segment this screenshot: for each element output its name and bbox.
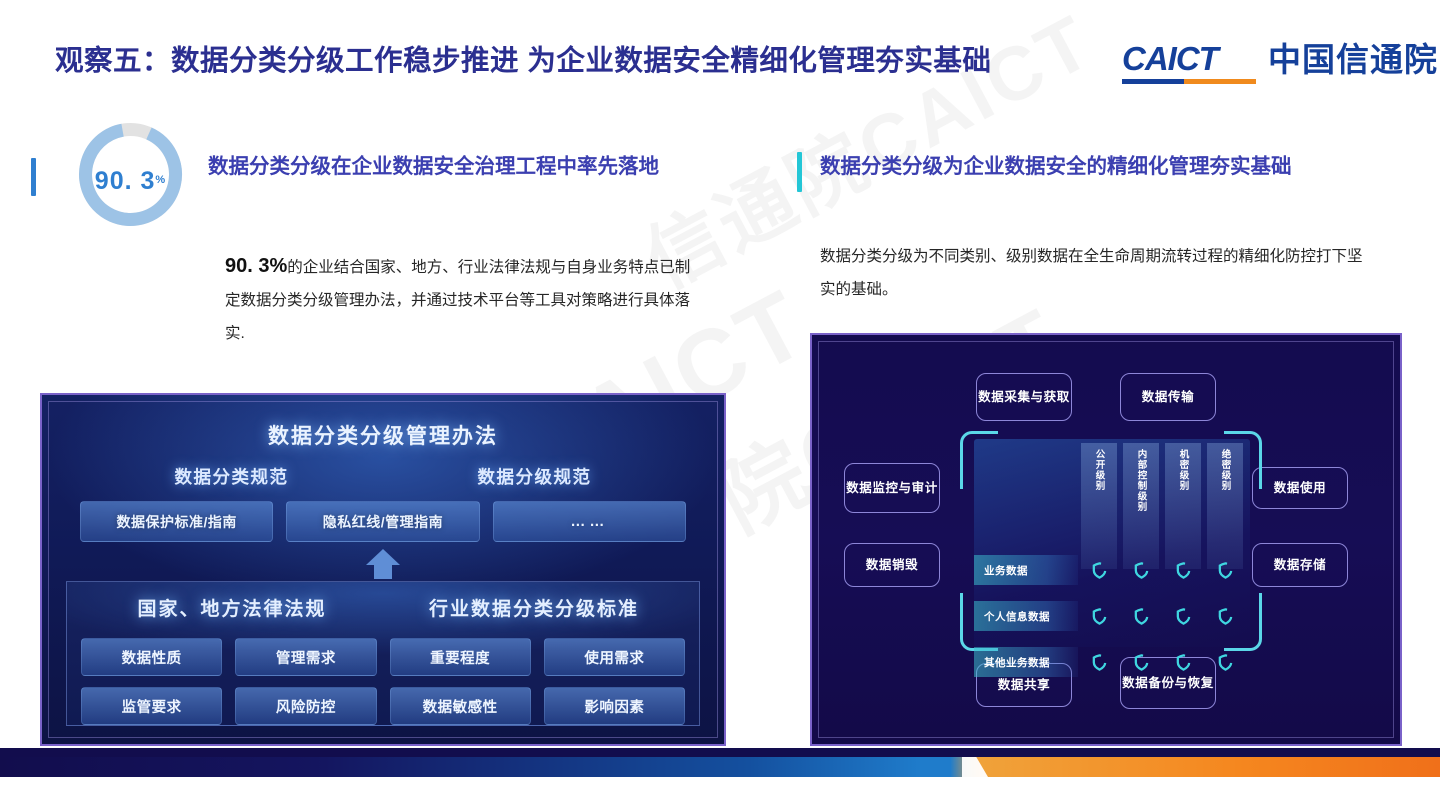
matrix-cell bbox=[1204, 647, 1246, 677]
foundation-cell: 数据性质 bbox=[81, 638, 222, 676]
caict-logo: CAICT 中国信通院 bbox=[1122, 40, 1438, 88]
matrix-cell bbox=[1120, 555, 1162, 585]
left-body-text: 的企业结合国家、地方、行业法律法规与自身业务特点已制定数据分类分级管理办法，并通… bbox=[225, 259, 690, 342]
foundation-cell: 风险防控 bbox=[235, 687, 376, 725]
shield-icon bbox=[1091, 654, 1108, 671]
foundation-title-row: 国家、地方法律法规 行业数据分类分级标准 bbox=[81, 594, 685, 630]
matrix-column-label: 绝密级别 bbox=[1220, 449, 1231, 569]
lifecycle-box-store: 数据存储 bbox=[1252, 543, 1348, 587]
matrix-column-label: 内部控制级别 bbox=[1136, 449, 1147, 569]
matrix-rows: 业务数据 个人信息数据 bbox=[974, 555, 1250, 693]
left-column-heading: 数据分类分级在企业数据安全治理工程中率先落地 bbox=[208, 148, 708, 186]
shield-icon bbox=[1217, 608, 1234, 625]
slide-header: 观察五：数据分类分级工作稳步推进 为企业数据安全精细化管理夯实基础 CAICT … bbox=[0, 0, 1440, 105]
matrix-column-header: 内部控制级别 bbox=[1123, 443, 1159, 569]
left-diagram-subtitle-row: 数据分类规范 数据分级规范 bbox=[80, 464, 686, 498]
left-diagram-foundation-block: 国家、地方法律法规 行业数据分类分级标准 数据性质 管理需求 重要程度 使用需求… bbox=[66, 581, 700, 726]
matrix-row: 业务数据 bbox=[974, 555, 1250, 585]
matrix-row: 个人信息数据 bbox=[974, 601, 1250, 631]
left-column-body: 90. 3%的企业结合国家、地方、行业法律法规与自身业务特点已制定数据分类分级管… bbox=[225, 250, 695, 350]
logo-mark: CAICT bbox=[1122, 40, 1256, 84]
left-diagram-panel: 数据分类分级管理办法 数据分类规范 数据分级规范 数据保护标准/指南 隐私红线/… bbox=[40, 393, 726, 746]
matrix-cell bbox=[1204, 601, 1246, 631]
left-diagram-chip-row: 数据保护标准/指南 隐私红线/管理指南 …… bbox=[80, 501, 686, 542]
logo-underline-orange bbox=[1184, 79, 1256, 84]
matrix-column-headers: 公开级别 内部控制级别 机密级别 绝密级别 bbox=[1078, 443, 1246, 569]
stat-donut-label: 90. 3% bbox=[74, 118, 187, 231]
matrix-cell bbox=[1078, 601, 1120, 631]
matrix-cell bbox=[1078, 647, 1120, 677]
shield-icon bbox=[1217, 654, 1234, 671]
matrix-row-label: 业务数据 bbox=[974, 555, 1078, 585]
shield-icon bbox=[1217, 562, 1234, 579]
logo-underline-blue bbox=[1122, 79, 1184, 84]
shield-icon bbox=[1133, 654, 1150, 671]
left-diagram-title: 数据分类分级管理办法 bbox=[42, 420, 724, 450]
stat-unit: % bbox=[155, 174, 166, 186]
left-diagram-subtitle: 数据分类规范 bbox=[80, 464, 383, 498]
left-diagram-chip-ellipsis: …… bbox=[493, 501, 686, 542]
slide-root: 中国信通院CAICT 信通院CAICT 院CAICT 中 观察五：数据分类分级工… bbox=[0, 0, 1440, 810]
logo-underline-bar bbox=[1122, 79, 1256, 84]
matrix-row: 其他业务数据 bbox=[974, 647, 1250, 677]
classification-matrix: 公开级别 内部控制级别 机密级别 绝密级别 业务数据 个人信息数据 bbox=[974, 439, 1250, 647]
lifecycle-box-use: 数据使用 bbox=[1252, 467, 1348, 509]
matrix-cell bbox=[1162, 647, 1204, 677]
logo-wordmark: CAICT bbox=[1122, 40, 1256, 78]
matrix-row-label: 个人信息数据 bbox=[974, 601, 1078, 631]
matrix-row-cells bbox=[1078, 601, 1246, 631]
shield-icon bbox=[1091, 608, 1108, 625]
right-diagram-panel: 数据采集与获取 数据传输 数据监控与审计 数据销毁 数据使用 数据存储 数据共享… bbox=[810, 333, 1402, 746]
shield-icon bbox=[1133, 608, 1150, 625]
foundation-title: 国家、地方法律法规 bbox=[81, 594, 383, 630]
foundation-cell: 重要程度 bbox=[390, 638, 531, 676]
matrix-cell bbox=[1204, 555, 1246, 585]
foundation-cell-grid: 数据性质 管理需求 重要程度 使用需求 监管要求 风险防控 数据敏感性 影响因素 bbox=[81, 638, 685, 725]
shield-icon bbox=[1175, 562, 1192, 579]
matrix-cell bbox=[1120, 647, 1162, 677]
matrix-row-cells bbox=[1078, 647, 1246, 677]
matrix-column-header: 机密级别 bbox=[1165, 443, 1201, 569]
right-column-heading: 数据分类分级为企业数据安全的精细化管理夯实基础 bbox=[820, 148, 1380, 186]
right-accent-bar bbox=[797, 152, 802, 192]
matrix-row-cells bbox=[1078, 555, 1246, 585]
foundation-cell: 监管要求 bbox=[81, 687, 222, 725]
matrix-column-label: 公开级别 bbox=[1094, 449, 1105, 569]
left-body-highlight: 90. 3% bbox=[225, 255, 287, 277]
arrow-shaft bbox=[374, 563, 392, 579]
footer-gradient-ribbon bbox=[0, 757, 1440, 777]
foundation-cell: 数据敏感性 bbox=[390, 687, 531, 725]
lifecycle-box-monitor: 数据监控与审计 bbox=[844, 463, 940, 513]
matrix-column-header: 公开级别 bbox=[1081, 443, 1117, 569]
matrix-column-label: 机密级别 bbox=[1178, 449, 1189, 569]
logo-chinese-name: 中国信通院 bbox=[1268, 40, 1438, 80]
lifecycle-box-collect: 数据采集与获取 bbox=[976, 373, 1072, 421]
matrix-row-label: 其他业务数据 bbox=[974, 647, 1078, 677]
left-accent-bar bbox=[31, 158, 36, 196]
shield-icon bbox=[1175, 654, 1192, 671]
right-column-body: 数据分类分级为不同类别、级别数据在全生命周期流转过程的精细化防控打下坚实的基础。 bbox=[820, 240, 1370, 306]
page-title: 观察五：数据分类分级工作稳步推进 为企业数据安全精细化管理夯实基础 bbox=[55, 38, 991, 79]
left-diagram-chip: 隐私红线/管理指南 bbox=[286, 501, 479, 542]
stat-value: 90. 3 bbox=[95, 167, 156, 196]
lifecycle-box-destroy: 数据销毁 bbox=[844, 543, 940, 587]
matrix-cell bbox=[1120, 601, 1162, 631]
foundation-title: 行业数据分类分级标准 bbox=[383, 594, 685, 630]
matrix-column-header: 绝密级别 bbox=[1207, 443, 1243, 569]
lifecycle-box-transmit: 数据传输 bbox=[1120, 373, 1216, 421]
left-diagram-subtitle: 数据分级规范 bbox=[383, 464, 686, 498]
foundation-cell: 影响因素 bbox=[544, 687, 685, 725]
foundation-cell: 管理需求 bbox=[235, 638, 376, 676]
left-diagram-chip: 数据保护标准/指南 bbox=[80, 501, 273, 542]
matrix-cell bbox=[1078, 555, 1120, 585]
stat-donut-chart: 90. 3% bbox=[74, 118, 187, 231]
shield-icon bbox=[1133, 562, 1150, 579]
matrix-cell bbox=[1162, 601, 1204, 631]
shield-icon bbox=[1091, 562, 1108, 579]
matrix-cell bbox=[1162, 555, 1204, 585]
foundation-cell: 使用需求 bbox=[544, 638, 685, 676]
shield-icon bbox=[1175, 608, 1192, 625]
